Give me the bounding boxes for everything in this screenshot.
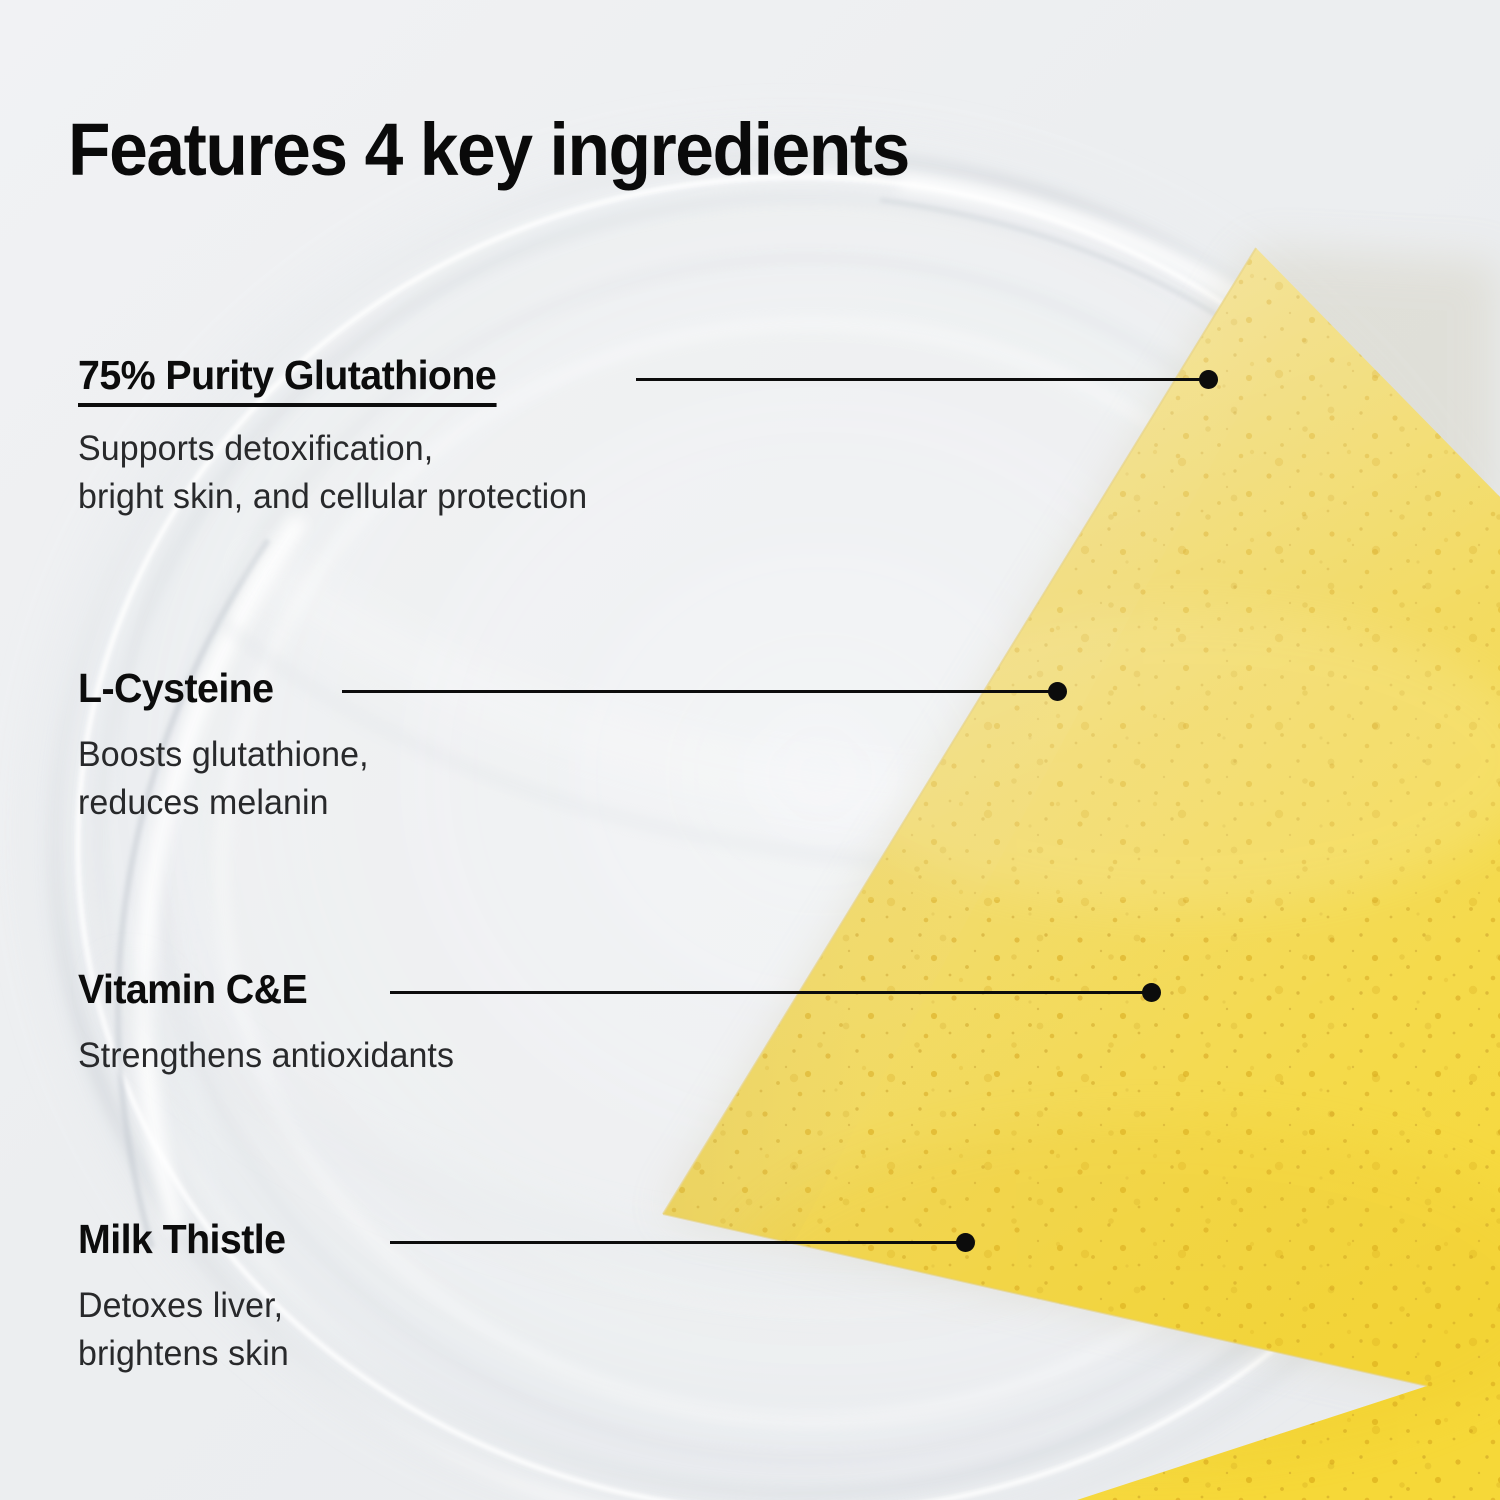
feature-description-milk-thistle: Detoxes liver, brightens skin xyxy=(78,1282,289,1378)
feature-block-milk-thistle: Milk Thistle Detoxes liver, brightens sk… xyxy=(78,1216,295,1378)
feature-block-lcysteine: L-Cysteine Boosts glutathione, reduces m… xyxy=(78,665,378,827)
feature-title-milk-thistle: Milk Thistle xyxy=(78,1216,285,1262)
callout-layer: Features 4 key ingredients 75% Purity Gl… xyxy=(0,0,1500,1500)
feature-description-vitamin-ce: Strengthens antioxidants xyxy=(78,1032,454,1080)
feature-block-vitamin-ce: Vitamin C&E Strengthens antioxidants xyxy=(78,966,466,1080)
leader-line-lcysteine xyxy=(342,690,1050,693)
feature-title-lcysteine: L-Cysteine xyxy=(78,665,273,711)
infographic-canvas: Features 4 key ingredients 75% Purity Gl… xyxy=(0,0,1500,1500)
leader-line-vitamin-ce xyxy=(390,991,1143,994)
feature-title-vitamin-ce: Vitamin C&E xyxy=(78,966,307,1012)
feature-description-lcysteine: Boosts glutathione, reduces melanin xyxy=(78,731,369,827)
leader-line-milk-thistle xyxy=(390,1241,958,1244)
feature-block-glutathione: 75% Purity Glutathione Supports detoxifi… xyxy=(78,352,603,521)
leader-dot-vitamin-ce xyxy=(1142,983,1161,1002)
leader-line-glutathione xyxy=(636,378,1208,381)
leader-dot-milk-thistle xyxy=(956,1233,975,1252)
leader-dot-glutathione xyxy=(1199,370,1218,389)
page-title: Features 4 key ingredients xyxy=(68,108,909,192)
leader-dot-lcysteine xyxy=(1048,682,1067,701)
feature-description-glutathione: Supports detoxification, bright skin, an… xyxy=(78,425,587,521)
feature-title-glutathione: 75% Purity Glutathione xyxy=(78,352,496,407)
